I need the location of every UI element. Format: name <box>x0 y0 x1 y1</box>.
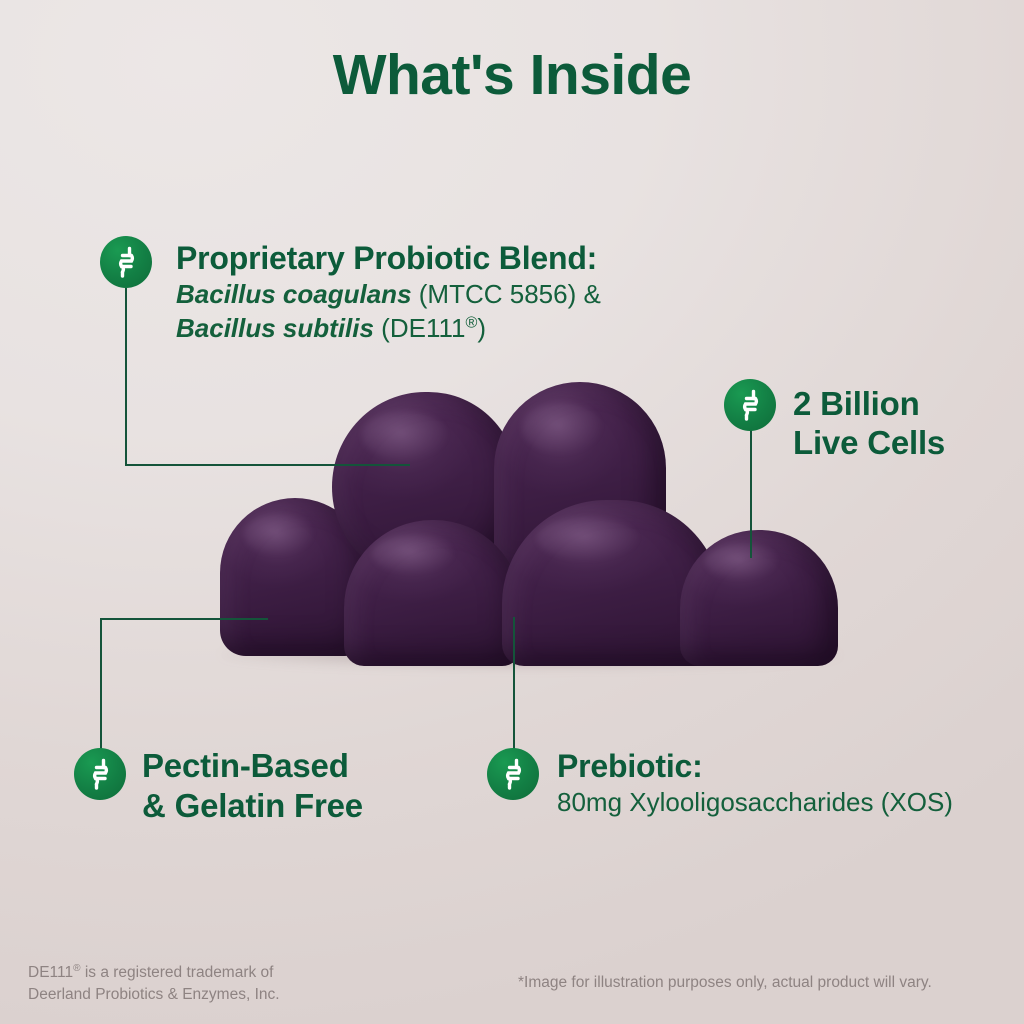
callout-subline-1: Bacillus coagulans (MTCC 5856) & <box>176 277 601 311</box>
leader-line-pectin-vertical <box>100 618 102 756</box>
strain-code-de111: (DE111 <box>374 313 466 343</box>
leader-line-blend-vertical <box>125 288 127 466</box>
callout-proprietary-probiotic-blend: Proprietary Probiotic Blend: Bacillus co… <box>176 240 601 346</box>
registered-mark: ® <box>465 314 477 332</box>
footer-de111-label: DE111 <box>28 964 73 981</box>
gummy-front-right <box>680 530 838 666</box>
callout-subline: 80mg Xylooligosaccharides (XOS) <box>557 785 953 819</box>
callout-headline: Proprietary Probiotic Blend: <box>176 240 601 277</box>
species-name-coagulans: Bacillus coagulans <box>176 279 412 309</box>
footer-disclaimer: *Image for illustration purposes only, a… <box>518 972 932 994</box>
gut-icon <box>109 245 143 279</box>
gut-icon <box>83 757 117 791</box>
gut-icon <box>496 757 530 791</box>
footer-trademark-line-2: Deerland Probiotics & Enzymes, Inc. <box>28 984 280 1006</box>
footer-trademark-notice: DE111® is a registered trademark of Deer… <box>28 962 280 1006</box>
callout-pectin-based: Pectin-Based & Gelatin Free <box>142 746 363 825</box>
species-name-subtilis: Bacillus subtilis <box>176 313 374 343</box>
page-title: What's Inside <box>0 46 1024 106</box>
gut-icon-badge-blend <box>100 236 152 288</box>
callout-headline-line-2: Live Cells <box>793 424 945 463</box>
callout-subline-2: Bacillus subtilis (DE111®) <box>176 311 601 345</box>
strain-code-tail: ) <box>477 313 486 343</box>
infographic-canvas: What's Inside <box>0 0 1024 1024</box>
leader-line-blend-horizontal <box>125 464 410 466</box>
gut-icon-badge-prebiotic <box>487 748 539 800</box>
callout-headline-line-1: Pectin-Based <box>142 746 363 786</box>
footer-trademark-text: is a registered trademark of <box>81 964 274 981</box>
leader-line-live-cells <box>750 430 752 558</box>
callout-headline: Prebiotic: <box>557 748 953 785</box>
callout-headline-line-2: & Gelatin Free <box>142 786 363 826</box>
registered-mark: ® <box>73 963 80 974</box>
leader-line-prebiotic <box>513 617 515 757</box>
leader-line-pectin-horizontal <box>100 618 268 620</box>
gut-icon-badge-pectin <box>74 748 126 800</box>
callout-live-cells: 2 Billion Live Cells <box>793 385 945 463</box>
footer-trademark-line-1: DE111® is a registered trademark of <box>28 962 280 984</box>
callout-headline-line-1: 2 Billion <box>793 385 945 424</box>
gut-icon <box>733 388 767 422</box>
callout-prebiotic: Prebiotic: 80mg Xylooligosaccharides (XO… <box>557 748 953 819</box>
strain-code-mtcc: (MTCC 5856) & <box>412 279 601 309</box>
gut-icon-badge-live-cells <box>724 379 776 431</box>
